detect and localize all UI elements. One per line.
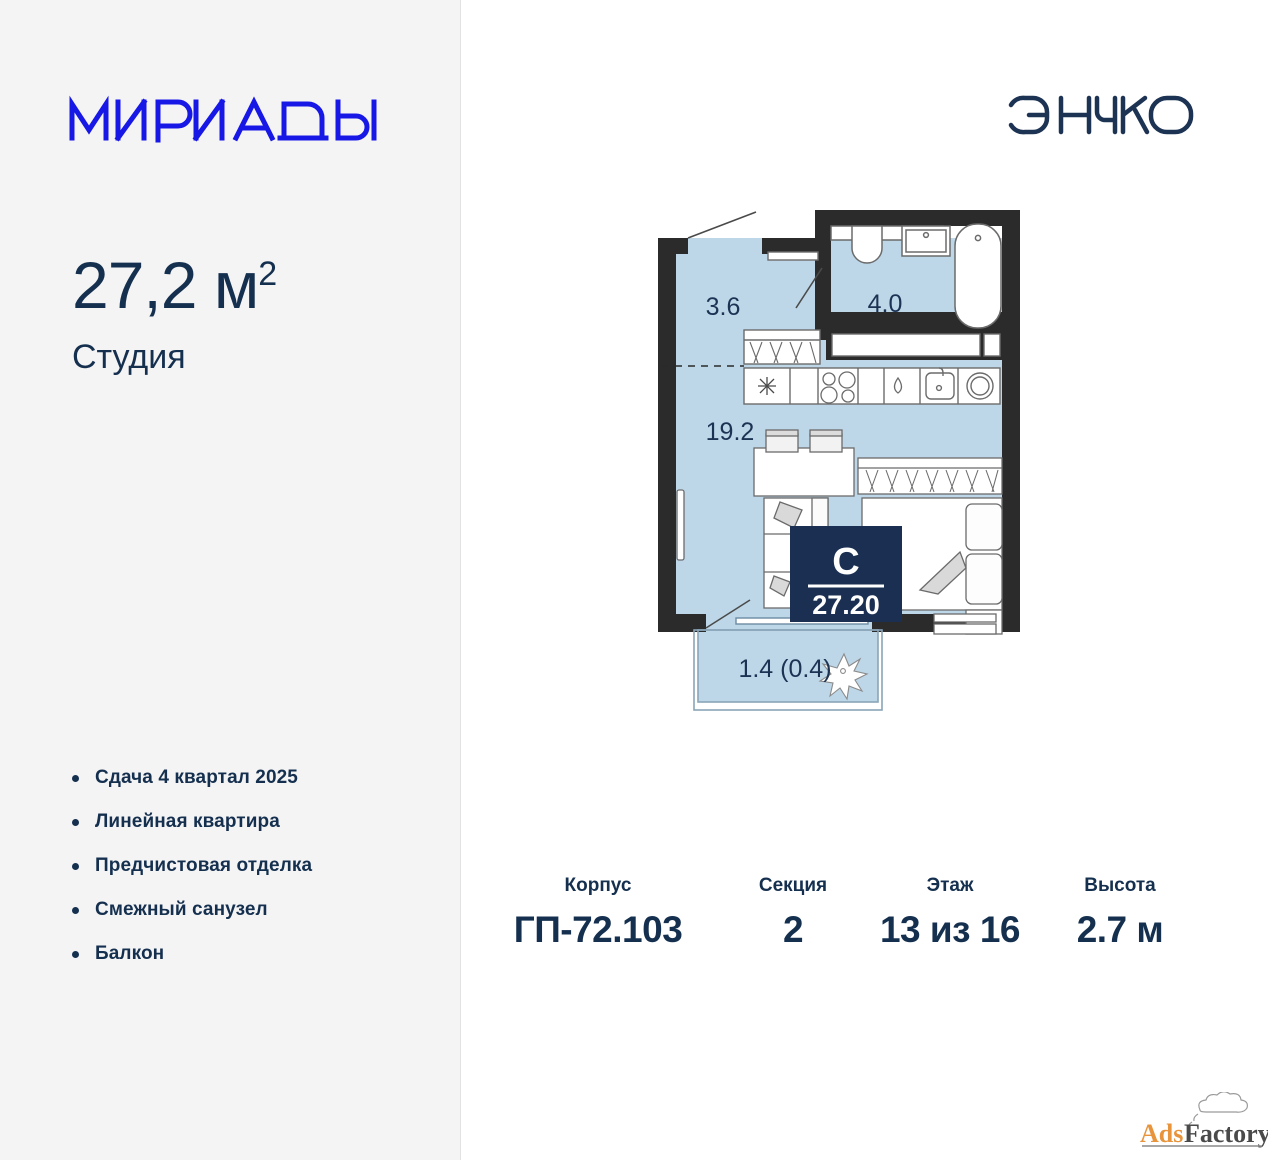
spec-label: Высота [1084, 876, 1156, 895]
spec-etazh: Этаж 13 из 16 [860, 876, 1040, 948]
feature-item: Смежный санузел [72, 888, 452, 932]
feature-label: Смежный санузел [95, 899, 268, 921]
spec-value: ГП-72.103 [514, 911, 683, 948]
toilet [852, 226, 882, 263]
spec-vysota: Высота 2.7 м [1040, 876, 1200, 948]
spec-label: Корпус [565, 876, 632, 895]
adsfactory-watermark: Ads Factory [1136, 1092, 1268, 1154]
badge-type: С [832, 541, 859, 583]
features-list: Сдача 4 квартал 2025 Линейная квартира П… [72, 756, 452, 976]
apartment-type: Студия [72, 340, 452, 374]
spec-korpus: Корпус ГП-72.103 [470, 876, 726, 948]
room-label-balcony: 1.4 (0.4) [738, 655, 831, 683]
bullet-icon [72, 951, 79, 958]
feature-label: Балкон [95, 943, 164, 965]
area-number: 27,2 [72, 248, 196, 322]
hall-window [768, 252, 818, 260]
watermark-text-primary: Ads [1140, 1119, 1183, 1148]
bullet-icon [72, 863, 79, 870]
feature-item: Предчистовая отделка [72, 844, 452, 888]
feature-item: Линейная квартира [72, 800, 452, 844]
badge-area: 27.20 [812, 590, 880, 620]
watermark-text-secondary: Factory [1184, 1119, 1268, 1148]
dining-table [754, 448, 854, 496]
dining-chair [810, 430, 842, 452]
area-unit: м [214, 248, 258, 322]
panel-divider [460, 0, 461, 1160]
enko-logo [1005, 92, 1197, 138]
area-exponent: 2 [258, 255, 276, 293]
spec-label: Этаж [927, 876, 974, 895]
specs-row: Корпус ГП-72.103 Секция 2 Этаж 13 из 16 … [470, 876, 1200, 948]
kitchen-sink [926, 368, 954, 399]
cooktop-hood [758, 377, 776, 395]
bullet-icon [72, 819, 79, 826]
balcony-door [934, 614, 996, 634]
area-block: 27,2 м2 Студия [72, 252, 452, 374]
radiator [677, 490, 684, 560]
entry-door [688, 212, 756, 238]
apartment-badge: С 27.20 [790, 526, 902, 622]
closet [858, 458, 1002, 494]
room-label-bathroom: 4.0 [868, 290, 903, 318]
feature-label: Линейная квартира [95, 811, 280, 833]
apartment-area: 27,2 м2 [72, 252, 452, 318]
feature-label: Сдача 4 квартал 2025 [95, 767, 298, 789]
floor-plan: 3.6 4.0 19.2 1.4 (0.4) С 27.20 [640, 190, 1040, 830]
bullet-icon [72, 775, 79, 782]
dining-chair [766, 430, 798, 452]
feature-item: Сдача 4 квартал 2025 [72, 756, 452, 800]
feature-label: Предчистовая отделка [95, 855, 312, 877]
room-label-studio: 19.2 [706, 418, 755, 446]
spec-value: 13 из 16 [880, 911, 1020, 948]
left-info-panel [0, 0, 460, 1160]
spec-value: 2 [783, 911, 803, 948]
miriady-logo [68, 88, 438, 146]
room-label-hall: 3.6 [706, 293, 741, 321]
floorplan-page: 27,2 м2 Студия Сдача 4 квартал 2025 Лине… [0, 0, 1280, 1160]
spec-sekciya: Секция 2 [726, 876, 860, 948]
bathtub [955, 224, 1001, 328]
bullet-icon [72, 907, 79, 914]
kitchen-counter [744, 368, 1000, 404]
spec-value: 2.7 м [1077, 911, 1164, 948]
feature-item: Балкон [72, 932, 452, 976]
spec-label: Секция [759, 876, 827, 895]
